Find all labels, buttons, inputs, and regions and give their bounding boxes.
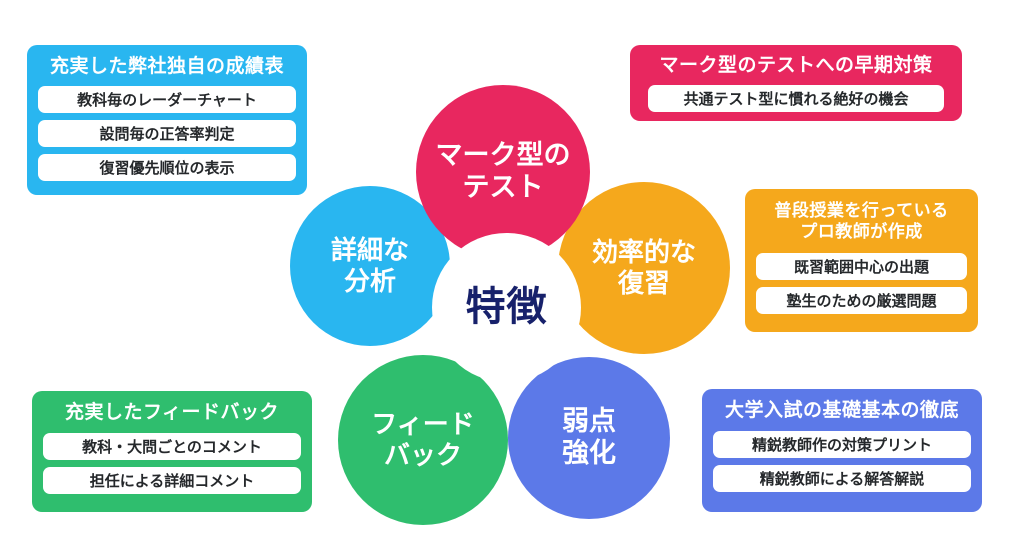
callout-exam: 大学入試の基礎基本の徹底 精鋭教師作の対策プリント 精鋭教師による解答解説 (702, 389, 982, 512)
list-item: 共通テスト型に慣れる絶好の機会 (648, 85, 944, 112)
list-item: 精鋭教師作の対策プリント (713, 431, 971, 458)
list-item: 塾生のための厳選問題 (756, 287, 967, 314)
callout-teacher-title: 普段授業を行っている プロ教師が作成 (745, 189, 978, 243)
list-item: 既習範囲中心の出題 (756, 253, 967, 280)
callout-feedback-title: 充実したフィードバック (32, 391, 312, 425)
callout-exam-items: 精鋭教師作の対策プリント 精鋭教師による解答解説 (702, 423, 982, 492)
callout-teacher: 普段授業を行っている プロ教師が作成 既習範囲中心の出題 塾生のための厳選問題 (745, 189, 978, 332)
center-label: 特徴 (466, 284, 548, 331)
list-item: 精鋭教師による解答解説 (713, 465, 971, 492)
callout-exam-title: 大学入試の基礎基本の徹底 (702, 389, 982, 423)
circle-weakness: 弱点 強化 (508, 357, 670, 519)
circle-analysis-label: 詳細な 分析 (331, 235, 409, 296)
callout-mark-test-title: マーク型のテストへの早期対策 (630, 45, 962, 78)
circle-review-label: 効率的な 復習 (592, 237, 696, 298)
list-item: 設問毎の正答率判定 (38, 120, 296, 147)
circle-feedback: フィード バック (338, 355, 508, 525)
list-item: 復習優先順位の表示 (38, 154, 296, 181)
circle-center-feature: 特徴 (432, 233, 581, 382)
feature-diagram: 充実した弊社独自の成績表 教科毎のレーダーチャート 設問毎の正答率判定 復習優先… (0, 0, 1010, 560)
circle-weakness-label: 弱点 強化 (562, 406, 616, 470)
callout-report-items: 教科毎のレーダーチャート 設問毎の正答率判定 復習優先順位の表示 (27, 79, 307, 181)
circle-review: 効率的な 復習 (558, 182, 730, 354)
callout-feedback: 充実したフィードバック 教科・大問ごとのコメント 担任による詳細コメント (32, 391, 312, 512)
circle-feedback-label: フィード バック (371, 409, 474, 470)
callout-mark-test: マーク型のテストへの早期対策 共通テスト型に慣れる絶好の機会 (630, 45, 962, 121)
callout-report: 充実した弊社独自の成績表 教科毎のレーダーチャート 設問毎の正答率判定 復習優先… (27, 45, 307, 195)
list-item: 教科・大問ごとのコメント (43, 433, 301, 460)
callout-feedback-items: 教科・大問ごとのコメント 担任による詳細コメント (32, 425, 312, 494)
circle-mark-test-label: マーク型の テスト (436, 140, 571, 204)
callout-report-title: 充実した弊社独自の成績表 (27, 45, 307, 79)
list-item: 教科毎のレーダーチャート (38, 86, 296, 113)
callout-teacher-items: 既習範囲中心の出題 塾生のための厳選問題 (745, 243, 978, 314)
list-item: 担任による詳細コメント (43, 467, 301, 494)
callout-mark-test-items: 共通テスト型に慣れる絶好の機会 (630, 78, 962, 112)
